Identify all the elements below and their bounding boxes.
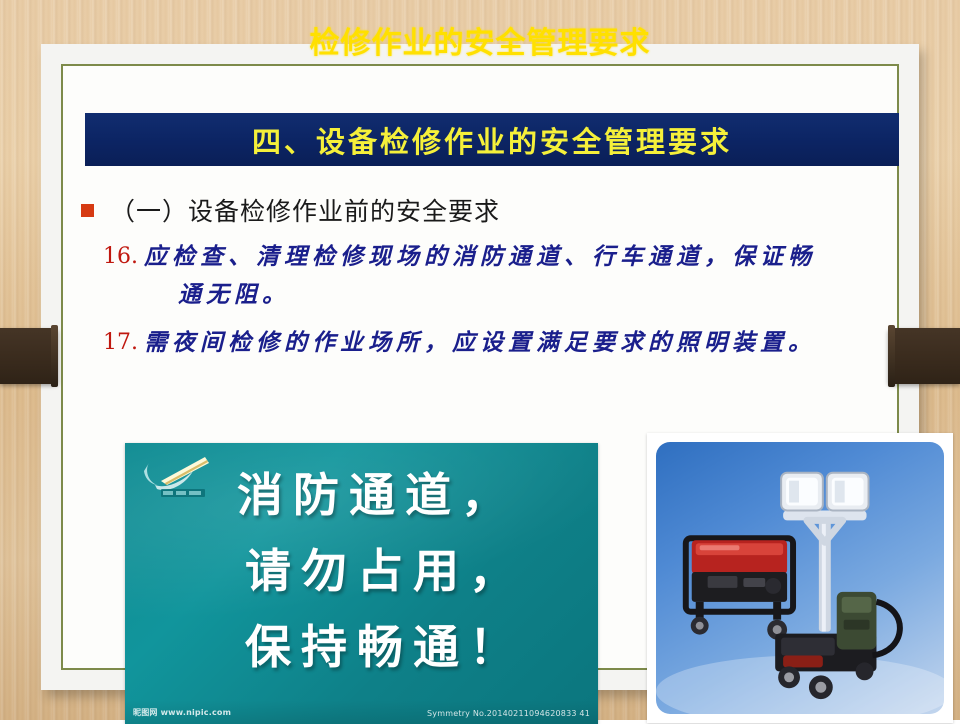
sign-line: 保持畅通！ (237, 609, 586, 685)
portable-generator-icon (686, 538, 793, 639)
subheading-text: （一）设备检修作业前的安全要求 (110, 192, 500, 228)
item-lines: 应检查、清理检修现场的消防通道、行车通道，保证畅 通无阻。 (144, 238, 816, 314)
right-bar-cap (888, 325, 895, 387)
slide-card: 四、设备检修作业的安全管理要求 （一）设备检修作业前的安全要求 16. 应检查、… (41, 44, 919, 690)
subheading-row: （一）设备检修作业前的安全要求 (81, 192, 897, 228)
item-line: 通无阻。 (144, 276, 816, 314)
item-number: 17. (103, 324, 138, 362)
list-item: 17. 需夜间检修的作业场所，应设置满足要求的照明装置。 (103, 324, 897, 362)
photo-inner (656, 442, 944, 714)
item-number: 16. (103, 238, 138, 276)
left-bar-cap (51, 325, 58, 387)
sign-line: 请勿占用， (237, 533, 586, 609)
image-row: 消防通道， 请勿占用， 保持畅通！ 昵图网 www.nipic.com Symm… (125, 433, 960, 723)
list-item: 16. 应检查、清理检修现场的消防通道、行车通道，保证畅 通无阻。 (103, 238, 897, 314)
slide-inner-frame: 四、设备检修作业的安全管理要求 （一）设备检修作业前的安全要求 16. 应检查、… (61, 64, 899, 670)
slide-title-banner: 四、设备检修作业的安全管理要求 (85, 113, 899, 166)
slide-body: （一）设备检修作业前的安全要求 16. 应检查、清理检修现场的消防通道、行车通道… (63, 178, 897, 668)
square-bullet-icon (81, 204, 94, 217)
sign-text-block: 消防通道， 请勿占用， 保持畅通！ (237, 457, 586, 685)
sign-line: 消防通道， (237, 457, 586, 533)
presentation-slide: 四、设备检修作业的安全管理要求 （一）设备检修作业前的安全要求 16. 应检查、… (0, 0, 960, 720)
fire-lane-sign-image: 消防通道， 请勿占用， 保持畅通！ 昵图网 www.nipic.com Symm… (125, 443, 598, 724)
lighting-equipment-photo (647, 433, 953, 723)
generator-and-light-tower-illustration (656, 442, 944, 714)
sign-watermark-right: Symmetry No.20140211094620833 41 (427, 709, 590, 718)
item-line: 应检查、清理检修现场的消防通道、行车通道，保证畅 (144, 238, 816, 276)
right-edge-accent-bar (888, 328, 960, 384)
slide-title-text: 四、设备检修作业的安全管理要求 (252, 119, 732, 161)
nipic-logo-icon (135, 451, 231, 503)
left-edge-accent-bar (0, 328, 58, 384)
item-line: 需夜间检修的作业场所，应设置满足要求的照明装置。 (144, 324, 816, 362)
item-lines: 需夜间检修的作业场所，应设置满足要求的照明装置。 (144, 324, 816, 362)
sign-watermark-left: 昵图网 www.nipic.com (133, 707, 231, 718)
